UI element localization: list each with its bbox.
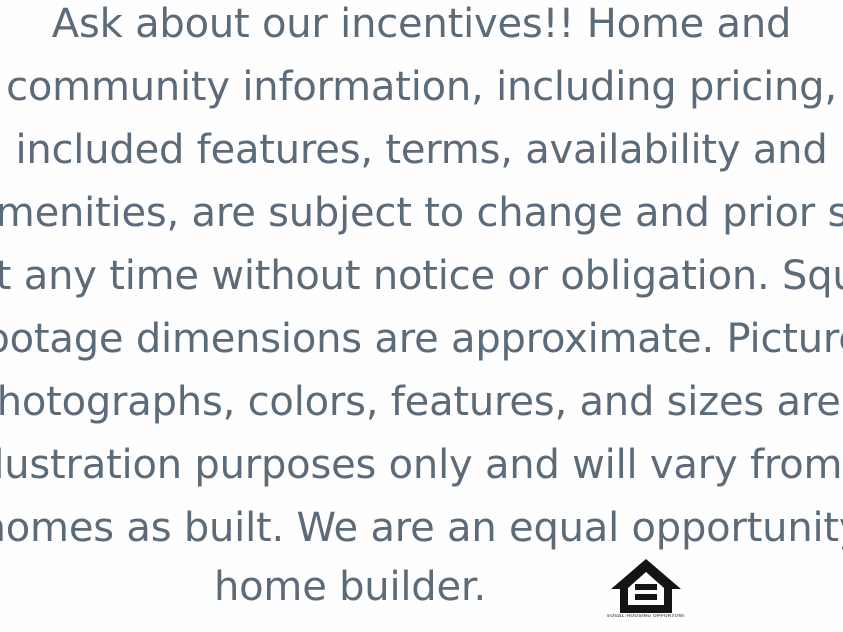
disclaimer-panel: Ask about our incentives!! Home and comm…	[0, 0, 843, 632]
disclaimer-paragraph: Ask about our incentives!! Home and comm…	[0, 0, 843, 560]
disclaimer-line: photographs, colors, features, and sizes…	[0, 371, 843, 434]
disclaimer-line: footage dimensions are approximate. Pict…	[0, 308, 843, 371]
disclaimer-line: Ask about our incentives!! Home and	[0, 0, 843, 56]
final-line-row: home builder. EQUAL HOUSING OPPORTUNITY	[0, 556, 843, 632]
equal-housing-opportunity-icon	[607, 556, 685, 632]
disclaimer-line: included features, terms, availability a…	[0, 119, 843, 182]
disclaimer-line: community information, including pricing…	[0, 56, 843, 119]
equal-housing-opportunity-caption: EQUAL HOUSING OPPORTUNITY	[607, 614, 685, 619]
disclaimer-final-line: home builder.	[0, 556, 700, 619]
disclaimer-line: amenities, are subject to change and pri…	[0, 182, 843, 245]
disclaimer-line: homes as built. We are an equal opportun…	[0, 497, 843, 560]
disclaimer-line: at any time without notice or obligation…	[0, 245, 843, 308]
disclaimer-line: illustration purposes only and will vary…	[0, 434, 843, 497]
